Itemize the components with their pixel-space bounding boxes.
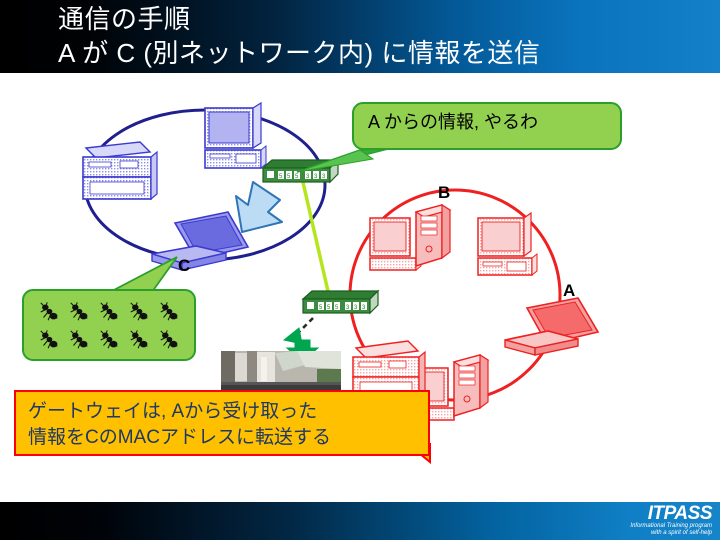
gateway-switch: 555 333	[303, 291, 378, 313]
node-label-c: C	[178, 256, 190, 276]
left-desktop-pc	[205, 103, 266, 168]
callout-gateway-reply-text: A からの情報, やるわ	[354, 104, 620, 140]
ants-callout-tail	[110, 257, 177, 292]
node-label-b: B	[438, 183, 450, 203]
ant-icon	[158, 329, 180, 351]
itpass-logo: ITPASS Informational Training program wi…	[620, 504, 712, 538]
itpass-logo-sub1: Informational Training program	[620, 523, 712, 530]
itpass-logo-sub2: with a spirit of self-help	[620, 530, 712, 537]
node-label-a: A	[563, 281, 575, 301]
ant-icon	[128, 329, 150, 351]
network-diagram: 555 333	[0, 0, 720, 540]
itpass-logo-text: ITPASS	[620, 504, 712, 523]
left-laptop-c	[152, 212, 248, 270]
delivery-arrow	[236, 182, 282, 232]
right-desktop-pc	[478, 213, 537, 275]
ant-icon	[38, 329, 60, 351]
callout-gateway-reply[interactable]: A からの情報, やるわ	[352, 102, 622, 150]
ant-icon	[98, 329, 120, 351]
ant-icon	[68, 301, 90, 323]
callout-gateway-explain-text: ゲートウェイは, Aから受け取った 情報をCのMACアドレスに転送する	[16, 392, 428, 458]
slide-footer-bar	[0, 502, 720, 540]
ant-icon-grid	[34, 298, 184, 354]
callout-gateway-explain[interactable]: ゲートウェイは, Aから受け取った 情報をCのMACアドレスに転送する	[14, 390, 430, 456]
ant-icon	[158, 301, 180, 323]
left-printer	[83, 142, 157, 199]
ant-icon	[128, 301, 150, 323]
ant-icon	[68, 329, 90, 351]
ant-icon	[38, 301, 60, 323]
right-laptop-a	[505, 298, 598, 355]
slide-canvas: 通信の手順 A が C (別ネットワーク内) に情報を送信	[0, 0, 720, 540]
right-tower-pc-b	[370, 205, 450, 270]
room-photo	[221, 351, 341, 395]
ant-icon	[98, 301, 120, 323]
inter-network-link	[302, 178, 330, 300]
